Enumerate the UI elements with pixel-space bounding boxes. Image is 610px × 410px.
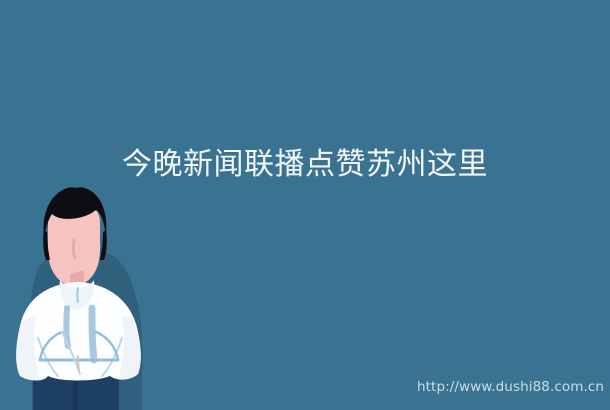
page-title: 今晚新闻联播点赞苏州这里: [0, 146, 610, 184]
collar-seam: [77, 288, 78, 302]
drawstring-tip: [78, 356, 79, 370]
drawstring-right: [92, 308, 94, 360]
screenshot-canvas: 今晚新闻联播点赞苏州这里 http://www.dushi88.com.cn: [0, 0, 610, 410]
watermark-url: http://www.dushi88.com.cn: [417, 379, 604, 396]
hoodie-person-illustration: [0, 170, 160, 410]
nose-line: [73, 240, 75, 258]
